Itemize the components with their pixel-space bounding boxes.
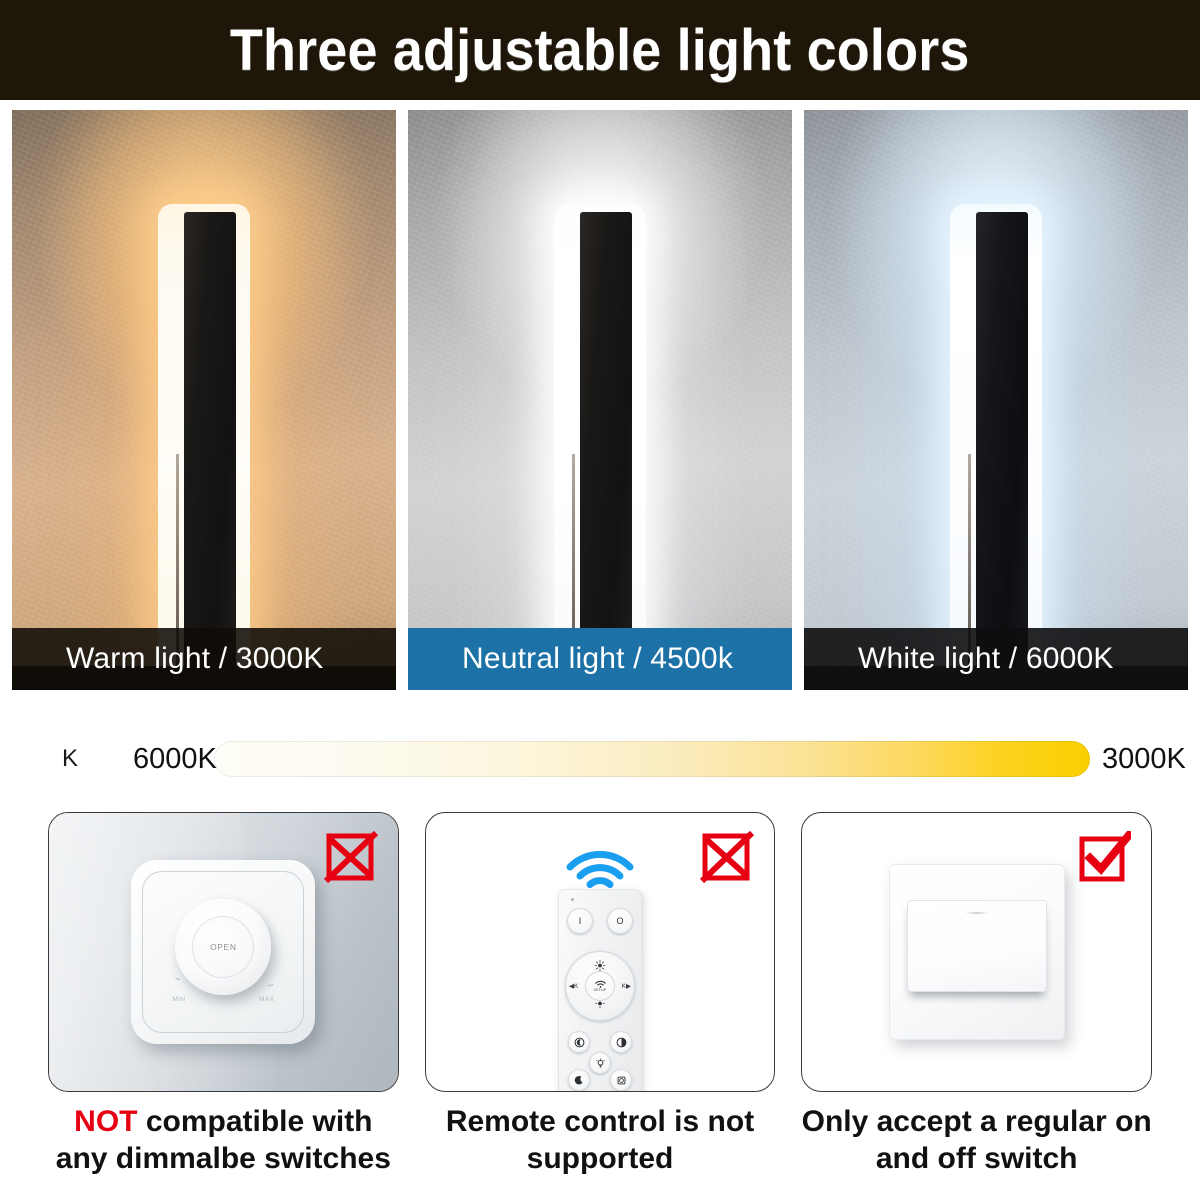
dimmer-knob-label: OPEN <box>210 942 237 952</box>
caption-remote: Remote control is not supported <box>425 1104 776 1196</box>
dimmer-faceplate: MIN MAX OPEN <box>142 871 304 1033</box>
lamp-body-bar <box>976 212 1028 684</box>
power-on-label: I <box>579 916 582 926</box>
kelvin-unit-label: K <box>62 745 78 773</box>
remote-night-mode-button[interactable] <box>568 1031 590 1053</box>
check-mark-icon <box>1077 831 1131 885</box>
infographic-page: Three adjustable light colors Warm light… <box>0 0 1200 1200</box>
remote-led-icon <box>571 898 574 901</box>
remote-setup-label: SETUP <box>594 988 607 992</box>
photo-caption-white: White light / 6000K <box>804 628 1188 690</box>
remote-k-left-label: ◀K <box>569 982 578 990</box>
remote-power-on-button[interactable]: I <box>567 908 593 934</box>
card-dimmer-switch[interactable]: MIN MAX OPEN <box>48 812 399 1092</box>
lamp-body-bar <box>580 212 632 684</box>
wall-switch-rocker[interactable] <box>907 900 1047 992</box>
light-color-gallery: Warm light / 3000K Neutral light / 4500k <box>12 110 1188 690</box>
lamp-body-bar <box>184 212 236 684</box>
photo-card-neutral[interactable]: Neutral light / 4500k <box>408 110 792 690</box>
photo-card-white[interactable]: White light / 6000K <box>804 110 1188 690</box>
remote-setup-button[interactable]: SETUP <box>585 971 615 1001</box>
wall-lamp-neutral-icon <box>554 204 646 684</box>
crescent-moon-icon <box>574 1075 585 1086</box>
photo-caption-neutral: Neutral light / 4500k <box>408 628 792 690</box>
dimmer-knob-face: OPEN <box>192 916 254 978</box>
card-wall-switch[interactable] <box>801 812 1152 1092</box>
dimmer-min-label: MIN <box>172 996 185 1003</box>
remote-bulb-button[interactable] <box>589 1052 611 1074</box>
photo-card-warm[interactable]: Warm light / 3000K <box>12 110 396 690</box>
dimmer-knob[interactable]: OPEN <box>175 899 271 995</box>
page-header: Three adjustable light colors <box>0 0 1200 100</box>
photo-caption-warm: Warm light / 3000K <box>12 628 396 690</box>
caption-wall-switch-text: Only accept a regular on and off switch <box>802 1105 1152 1175</box>
kelvin-gradient-bar[interactable] <box>214 741 1090 777</box>
card-captions: NOT compatible with any dimmalbe switche… <box>48 1104 1152 1196</box>
power-off-label: O <box>616 916 623 926</box>
remote-wifi-icon <box>594 980 607 988</box>
caption-wall-switch: Only accept a regular on and off switch <box>801 1104 1152 1196</box>
dimmer-switch-icon: MIN MAX OPEN <box>131 860 315 1044</box>
wall-switch-icon <box>889 864 1065 1040</box>
rocker-indicator-line <box>965 912 989 914</box>
dimmer-max-label: MAX <box>259 996 274 1003</box>
contrast-icon <box>616 1037 627 1048</box>
caption-dimmer: NOT compatible with any dimmalbe switche… <box>48 1104 399 1196</box>
alarm-clock-icon <box>616 1075 627 1086</box>
wall-lamp-cool-icon <box>950 204 1042 684</box>
remote-timer-button[interactable] <box>610 1069 632 1091</box>
remote-body: I O ◀K K▶ <box>558 889 642 1092</box>
moon-circle-icon <box>574 1037 585 1048</box>
light-bulb-icon <box>595 1058 606 1069</box>
kelvin-scale: K 6000K 3000K <box>0 722 1200 796</box>
wifi-signal-icon <box>525 843 675 889</box>
remote-control-icon: I O ◀K K▶ <box>525 843 675 1092</box>
card-remote-control[interactable]: I O ◀K K▶ <box>425 812 776 1092</box>
kelvin-left-label: 6000K <box>133 743 217 776</box>
cross-mark-icon <box>700 831 754 885</box>
remote-dpad[interactable]: ◀K K▶ <box>565 951 635 1021</box>
wall-lamp-warm-icon <box>158 204 250 684</box>
kelvin-right-label: 3000K <box>1102 743 1186 776</box>
cross-mark-icon <box>324 831 378 885</box>
remote-power-off-button[interactable]: O <box>607 908 633 934</box>
caption-remote-text: Remote control is not supported <box>446 1105 754 1175</box>
compatibility-cards: MIN MAX OPEN <box>48 812 1152 1092</box>
remote-k-right-label: K▶ <box>622 982 631 990</box>
page-title: Three adjustable light colors <box>230 17 970 84</box>
remote-contrast-button[interactable] <box>610 1031 632 1053</box>
remote-sleep-button[interactable] <box>568 1069 590 1091</box>
caption-dimmer-not: NOT <box>74 1105 137 1138</box>
